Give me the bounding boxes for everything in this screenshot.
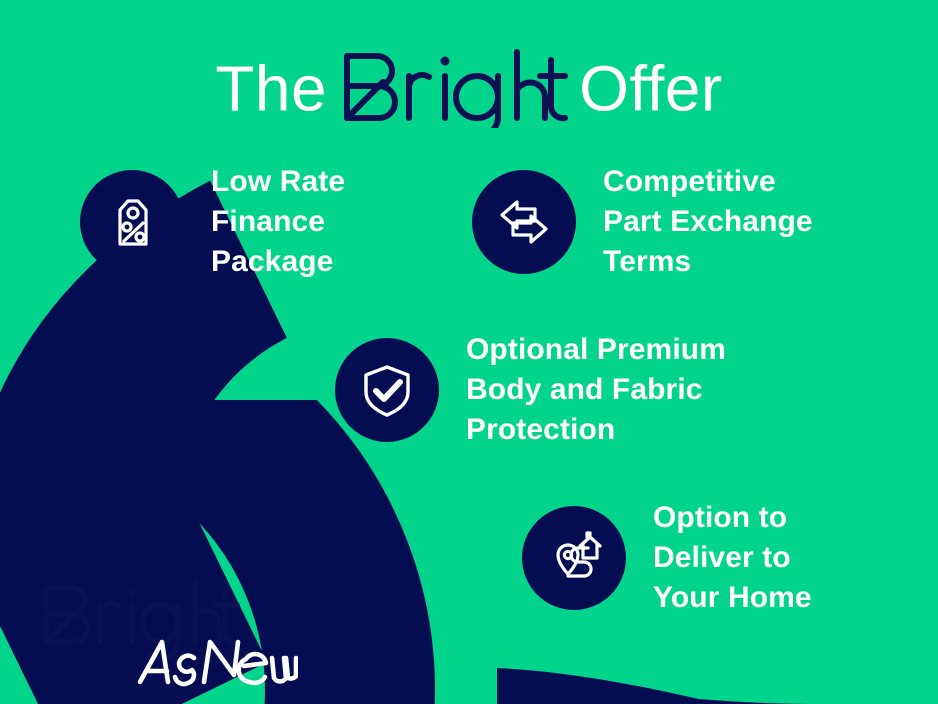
navy-wedge-shape [497, 668, 720, 704]
brand-logo [38, 578, 298, 688]
home-delivery-route-icon [544, 528, 604, 588]
feature-label: Option to Deliver to Your Home [653, 498, 812, 618]
feature-part-exchange: Competitive Part Exchange Terms [472, 162, 813, 282]
bright-wordmark-icon [337, 44, 569, 128]
logo-asnew-mark [140, 642, 296, 684]
price-tag-percent-icon [104, 194, 160, 250]
title-suffix: Offer [579, 53, 723, 125]
bright-offer-poster: The [0, 0, 938, 704]
feature-icon-badge [472, 170, 576, 274]
feature-label: Competitive Part Exchange Terms [603, 162, 813, 282]
feature-icon-badge [80, 170, 184, 274]
feature-low-rate-finance: Low Rate Finance Package [80, 162, 345, 282]
feature-label: Low Rate Finance Package [211, 162, 345, 282]
exchange-arrows-icon [495, 193, 553, 251]
feature-label: Optional Premium Body and Fabric Protect… [466, 330, 726, 450]
title-prefix: The [215, 53, 327, 125]
title-brand-logo [337, 44, 569, 133]
feature-icon-badge [335, 338, 439, 442]
shield-check-icon [358, 361, 416, 419]
feature-icon-badge [522, 506, 626, 610]
bright-asnew-logo-icon [38, 578, 298, 688]
navy-wedge-shape-extend [700, 699, 830, 704]
page-title: The [0, 44, 938, 133]
feature-body-fabric-protection: Optional Premium Body and Fabric Protect… [335, 330, 726, 450]
feature-home-delivery: Option to Deliver to Your Home [522, 498, 812, 618]
